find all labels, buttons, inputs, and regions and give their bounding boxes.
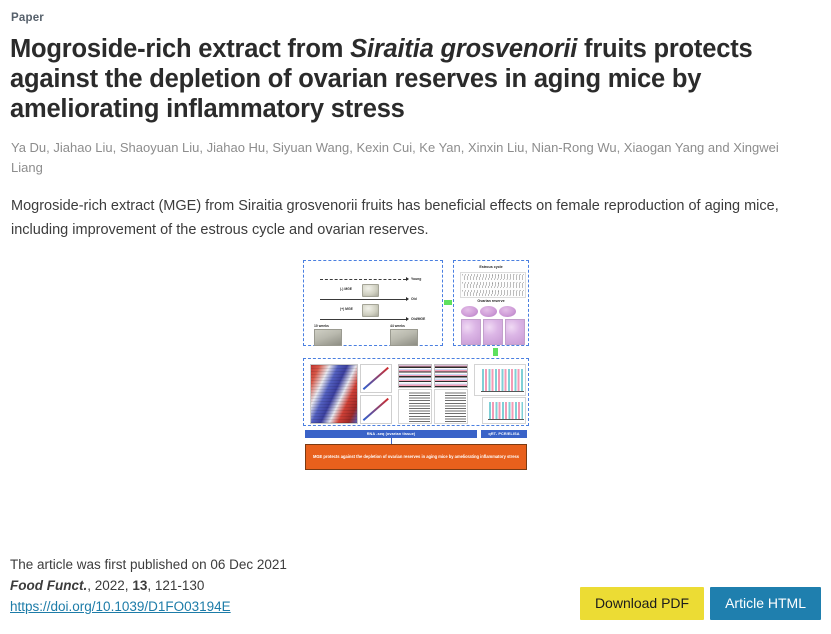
journal-name: Food Funct.: [10, 578, 87, 593]
flow-arrow-down-icon: [493, 348, 498, 356]
publication-date: The article was first published on 06 De…: [10, 555, 821, 576]
heatmap-deg: [310, 364, 358, 424]
timeline-old-arrowhead: [406, 297, 409, 301]
group-label-young: Young: [411, 277, 421, 281]
enrichment-plot-go: [398, 389, 432, 424]
publication-year: 2022: [95, 578, 125, 593]
volume-number: 13: [132, 578, 147, 593]
article-html-button[interactable]: Article HTML: [710, 587, 821, 620]
ovary-histology-images: [461, 319, 525, 345]
figure-label-estrous-cycle: Estrous cycle: [454, 265, 528, 269]
author-list: Ya Du, Jiahao Liu, Shaoyuan Liu, Jiahao …: [11, 138, 811, 177]
timeline-old-mge-arrowhead: [406, 317, 409, 321]
method-label-qrt-pcr-elisa: qRT- PCR/ELISA: [481, 430, 527, 438]
page-title: Mogroside-rich extract from Siraitia gro…: [10, 34, 815, 124]
treatment-label-mge: (+) MGE: [340, 307, 353, 311]
timepoint-label-start: 10 weeks: [314, 324, 329, 328]
content-type-label: Paper: [11, 12, 815, 24]
timeline-young-arrowhead: [406, 277, 409, 281]
scatter-plot-correlation-2: [360, 395, 392, 424]
treatment-label-none: (-) MGE: [340, 287, 352, 291]
histology-tile-young: [461, 319, 481, 345]
abstract-text: Mogroside-rich extract (MGE) from Sirait…: [11, 195, 815, 242]
timeline-old-line: [320, 299, 406, 300]
mge-pellet-image-1: [362, 284, 379, 297]
timeline-old-mge-line: [320, 319, 406, 320]
bar-chart-cytokine-levels: [482, 397, 526, 424]
timepoint-label-end: 44 weeks: [390, 324, 405, 328]
ovary-gross-images: [461, 306, 516, 317]
scatter-plot-correlation-1: [360, 364, 392, 393]
estrous-cycle-traces: [460, 272, 526, 298]
ovary-image-young: [461, 306, 478, 317]
group-label-old: Old: [411, 297, 417, 301]
histology-tile-old: [483, 319, 503, 345]
timeline-young-line: [320, 279, 406, 280]
histology-tile-old-mge: [505, 319, 525, 345]
figure-label-ovarian-reserve: Ovarian reserve: [454, 299, 528, 303]
figure-panel-molecular-analysis: [303, 358, 529, 426]
group-label-old-mge: Old/MGE: [411, 317, 425, 321]
figure-conclusion-banner: MGE protects against the depletion of ov…: [305, 444, 527, 470]
page-range: 121-130: [155, 578, 205, 593]
flow-arrow-right-icon: [444, 300, 452, 305]
download-pdf-button[interactable]: Download PDF: [580, 587, 704, 620]
mouse-photo-old: [390, 329, 418, 346]
ovary-image-old-mge: [499, 306, 516, 317]
heatmap-pathway-2: [434, 364, 468, 388]
enrichment-plot-kegg: [434, 389, 468, 424]
graphical-abstract-canvas: Young (-) MGE Old (+) MGE Old/MGE 10 wee…: [303, 260, 529, 475]
method-label-rnaseq: RNA -seq (ovarian tissue): [305, 430, 477, 438]
mouse-photo-young: [314, 329, 342, 346]
ovary-image-old: [480, 306, 497, 317]
action-button-row: Download PDF Article HTML: [580, 587, 821, 620]
title-species-name: Siraitia grosvenorii: [350, 35, 577, 63]
doi-link[interactable]: https://doi.org/10.1039/D1FO03194E: [10, 597, 231, 618]
title-part-1: Mogroside-rich extract from: [10, 35, 350, 63]
figure-panel-experimental-design: Young (-) MGE Old (+) MGE Old/MGE 10 wee…: [303, 260, 443, 346]
bar-chart-gene-expression: [474, 364, 526, 396]
figure-panel-phenotype: Estrous cycle Ovarian reserve: [453, 260, 529, 346]
article-record-page: Paper Mogroside-rich extract from Sirait…: [0, 0, 831, 634]
mge-pellet-image-2: [362, 304, 379, 317]
heatmap-pathway-1: [398, 364, 432, 388]
graphical-abstract-figure[interactable]: Young (-) MGE Old (+) MGE Old/MGE 10 wee…: [0, 252, 831, 490]
